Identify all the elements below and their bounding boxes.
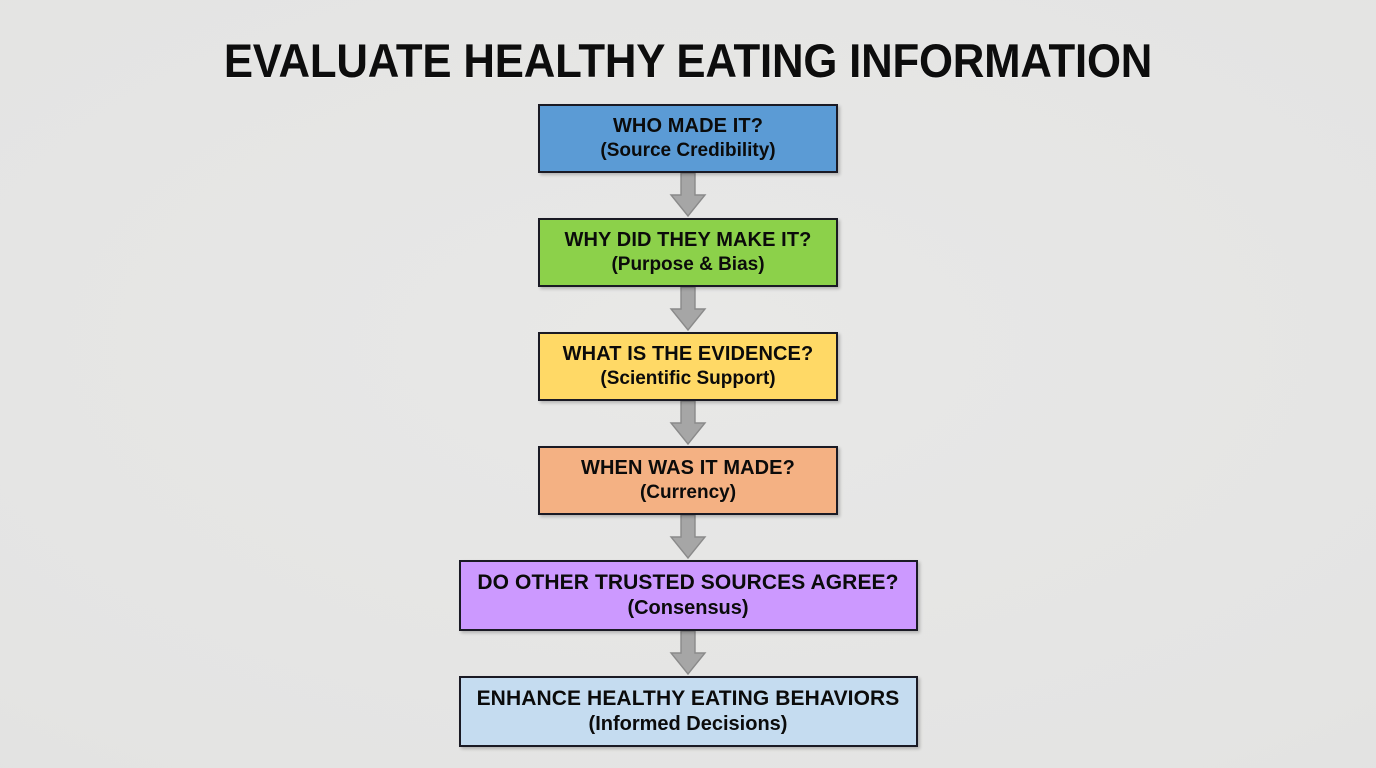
flow-node-headline: DO OTHER TRUSTED SOURCES AGREE?	[477, 571, 898, 595]
flow-node-headline: ENHANCE HEALTHY EATING BEHAVIORS	[477, 687, 900, 711]
flow-node-subline: (Currency)	[640, 482, 736, 503]
flow-node-informed-decisions[interactable]: ENHANCE HEALTHY EATING BEHAVIORS (Inform…	[459, 676, 918, 747]
flow-node-consensus[interactable]: DO OTHER TRUSTED SOURCES AGREE? (Consens…	[459, 560, 918, 631]
flow-node-headline: WHO MADE IT?	[613, 115, 763, 138]
down-arrow-icon	[664, 287, 712, 332]
flow-node-source-credibility[interactable]: WHO MADE IT? (Source Credibility)	[538, 104, 838, 173]
flow-node-subline: (Scientific Support)	[600, 368, 775, 389]
down-arrow-icon	[664, 631, 712, 676]
flow-node-scientific-support[interactable]: WHAT IS THE EVIDENCE? (Scientific Suppor…	[538, 332, 838, 401]
down-arrow-icon	[664, 173, 712, 218]
down-arrow-icon	[664, 515, 712, 560]
flowchart: WHO MADE IT? (Source Credibility) WHY DI…	[0, 104, 1376, 747]
flow-node-headline: WHEN WAS IT MADE?	[581, 457, 795, 480]
page-title: EVALUATE HEALTHY EATING INFORMATION	[48, 33, 1328, 88]
flow-node-headline: WHY DID THEY MAKE IT?	[565, 229, 812, 252]
flow-node-headline: WHAT IS THE EVIDENCE?	[563, 343, 814, 366]
flow-node-subline: (Source Credibility)	[600, 140, 775, 161]
flow-node-subline: (Informed Decisions)	[589, 713, 788, 736]
flow-node-subline: (Purpose & Bias)	[611, 254, 764, 275]
flow-node-purpose-bias[interactable]: WHY DID THEY MAKE IT? (Purpose & Bias)	[538, 218, 838, 287]
down-arrow-icon	[664, 401, 712, 446]
flow-node-currency[interactable]: WHEN WAS IT MADE? (Currency)	[538, 446, 838, 515]
flow-node-subline: (Consensus)	[627, 597, 748, 620]
